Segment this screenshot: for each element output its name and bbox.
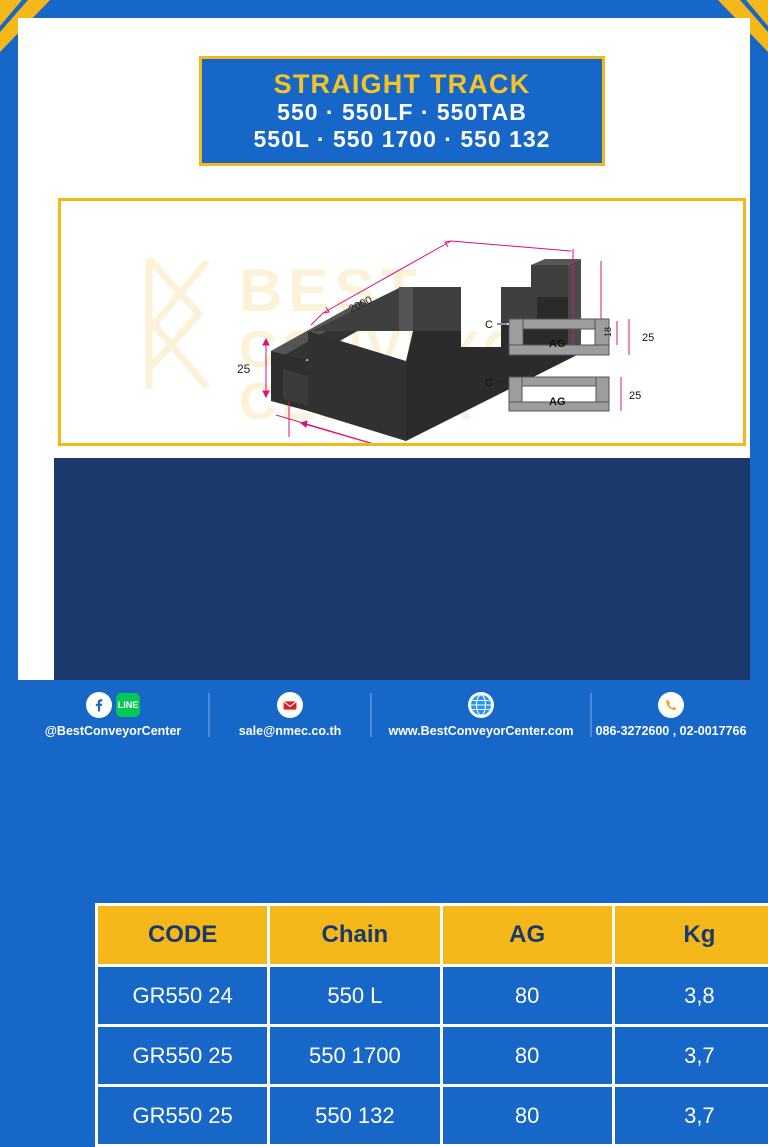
cell-chain: 550 132 (269, 1086, 441, 1146)
profile-top-dim-25: 25 (642, 332, 654, 344)
profile-bottom-dim-25: 25 (629, 390, 641, 402)
table-header-row: CODE Chain AG Kg (97, 905, 768, 966)
footer-phone-label: 086-3272600 , 02-0017766 (596, 724, 747, 738)
poster-page: STRAIGHT TRACK 550 · 550LF · 550TAB 550L… (0, 0, 768, 768)
footer-bar: LINE @BestConveyorCenter sale@nmec.co.th… (18, 680, 750, 750)
part-isometric-drawing: 2000 25 AG C AG 18 25 (61, 201, 743, 443)
globe-icon[interactable] (468, 692, 494, 718)
cell-ag: 80 (441, 966, 613, 1026)
col-header-code: CODE (97, 905, 269, 966)
phone-icon[interactable] (658, 692, 684, 718)
spec-table-container: CODE Chain AG Kg GR550 24 550 L 80 3,8 G… (54, 458, 750, 686)
footer-email[interactable]: sale@nmec.co.th (210, 680, 370, 750)
profile-top-dim-18: 18 (603, 327, 613, 337)
dim-width-label: AG (324, 442, 345, 443)
cell-chain: 550 1700 (269, 1026, 441, 1086)
footer-phone[interactable]: 086-3272600 , 02-0017766 (592, 680, 750, 750)
cell-ag: 80 (441, 1026, 613, 1086)
profile-bottom-left-label: C (485, 377, 493, 389)
technical-drawing-panel: BEST CONVEYOR CENTER (58, 198, 746, 446)
cell-kg: 3,8 (613, 966, 768, 1026)
footer-facebook-label: @BestConveyorCenter (45, 724, 182, 738)
title-subline-2: 550L · 550 1700 · 550 132 (254, 126, 551, 153)
footer-website-label: www.BestConveyorCenter.com (388, 724, 573, 738)
title-banner: STRAIGHT TRACK 550 · 550LF · 550TAB 550L… (199, 56, 605, 166)
col-header-ag: AG (441, 905, 613, 966)
page-title: STRAIGHT TRACK (274, 69, 531, 99)
email-icon[interactable] (277, 692, 303, 718)
title-subline-1: 550 · 550LF · 550TAB (277, 99, 527, 126)
cell-ag: 80 (441, 1086, 613, 1146)
line-icon[interactable]: LINE (116, 693, 140, 717)
table-row: GR550 25 550 132 80 3,7 (97, 1086, 768, 1146)
cell-kg: 3,7 (613, 1086, 768, 1146)
cell-code: GR550 25 (97, 1086, 269, 1146)
profile-top-left-label: C (485, 319, 493, 331)
footer-email-label: sale@nmec.co.th (239, 724, 342, 738)
table-row: GR550 24 550 L 80 3,8 (97, 966, 768, 1026)
cell-code: GR550 24 (97, 966, 269, 1026)
footer-facebook[interactable]: LINE @BestConveyorCenter (18, 680, 208, 750)
footer-website[interactable]: www.BestConveyorCenter.com (372, 680, 590, 750)
profile-bottom-inner-label: AG (549, 396, 566, 408)
cell-code: GR550 25 (97, 1026, 269, 1086)
profile-top-inner-label: AG (549, 338, 566, 350)
dim-height-label: 25 (237, 362, 251, 376)
table-row: GR550 25 550 1700 80 3,7 (97, 1026, 768, 1086)
facebook-icon[interactable] (86, 692, 112, 718)
spec-table: CODE Chain AG Kg GR550 24 550 L 80 3,8 G… (95, 903, 768, 1147)
white-content-panel: STRAIGHT TRACK 550 · 550LF · 550TAB 550L… (18, 18, 750, 750)
col-header-chain: Chain (269, 905, 441, 966)
col-header-kg: Kg (613, 905, 768, 966)
cell-kg: 3,7 (613, 1026, 768, 1086)
cell-chain: 550 L (269, 966, 441, 1026)
